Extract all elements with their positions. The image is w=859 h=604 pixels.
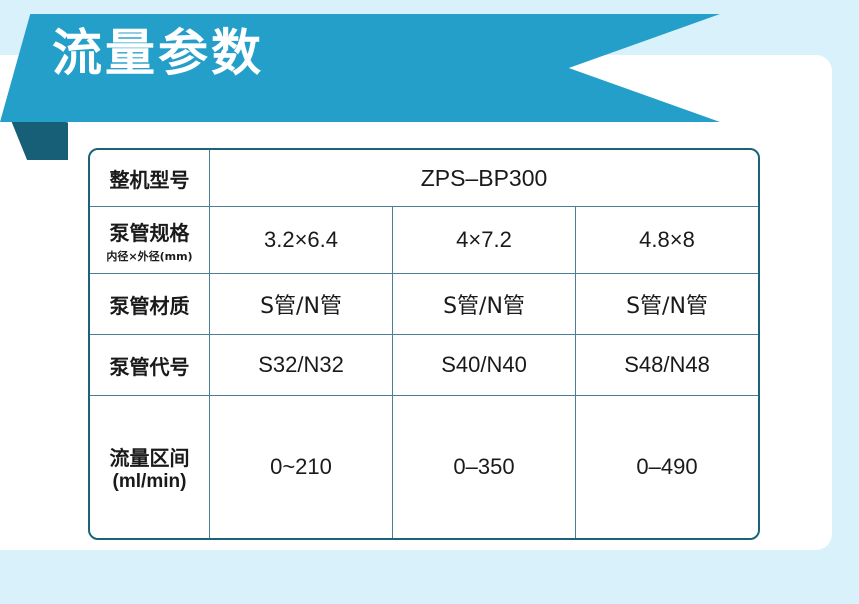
cell-tube-spec-3: 4.8×8 bbox=[576, 207, 758, 273]
table-row: 整机型号 ZPS–BP300 bbox=[90, 150, 758, 207]
specification-table: 整机型号 ZPS–BP300 泵管规格 内径×外径(mm) 3.2×6.4 4×… bbox=[88, 148, 760, 540]
row-label-text: 流量区间 bbox=[110, 442, 190, 471]
row-label-tube-spec: 泵管规格 内径×外径(mm) bbox=[90, 207, 210, 273]
row-label-tube-material: 泵管材质 bbox=[90, 274, 210, 334]
row-label-tube-code: 泵管代号 bbox=[90, 335, 210, 395]
table-row: 泵管代号 S32/N32 S40/N40 S48/N48 bbox=[90, 335, 758, 396]
cell-model-value: ZPS–BP300 bbox=[210, 150, 758, 206]
cell-flow-range-2: 0–350 bbox=[393, 396, 576, 538]
row-label-flow-range: 流量区间 (ml/min) bbox=[90, 396, 210, 538]
row-unit-text: (ml/min) bbox=[113, 471, 187, 493]
cell-tube-material-2: S管/N管 bbox=[393, 274, 576, 334]
cell-tube-spec-2: 4×7.2 bbox=[393, 207, 576, 273]
row-label-text: 泵管规格 bbox=[110, 217, 190, 246]
cell-flow-range-1: 0~210 bbox=[210, 396, 393, 538]
table-row: 流量区间 (ml/min) 0~210 0–350 0–490 bbox=[90, 396, 758, 538]
cell-tube-material-3: S管/N管 bbox=[576, 274, 758, 334]
cell-flow-range-3: 0–490 bbox=[576, 396, 758, 538]
table-row: 泵管材质 S管/N管 S管/N管 S管/N管 bbox=[90, 274, 758, 335]
cell-tube-spec-1: 3.2×6.4 bbox=[210, 207, 393, 273]
row-sublabel-text: 内径×外径(mm) bbox=[106, 248, 192, 264]
cell-tube-material-1: S管/N管 bbox=[210, 274, 393, 334]
table-row: 泵管规格 内径×外径(mm) 3.2×6.4 4×7.2 4.8×8 bbox=[90, 207, 758, 274]
cell-tube-code-3: S48/N48 bbox=[576, 335, 758, 395]
cell-tube-code-2: S40/N40 bbox=[393, 335, 576, 395]
row-label-model: 整机型号 bbox=[90, 150, 210, 206]
cell-tube-code-1: S32/N32 bbox=[210, 335, 393, 395]
